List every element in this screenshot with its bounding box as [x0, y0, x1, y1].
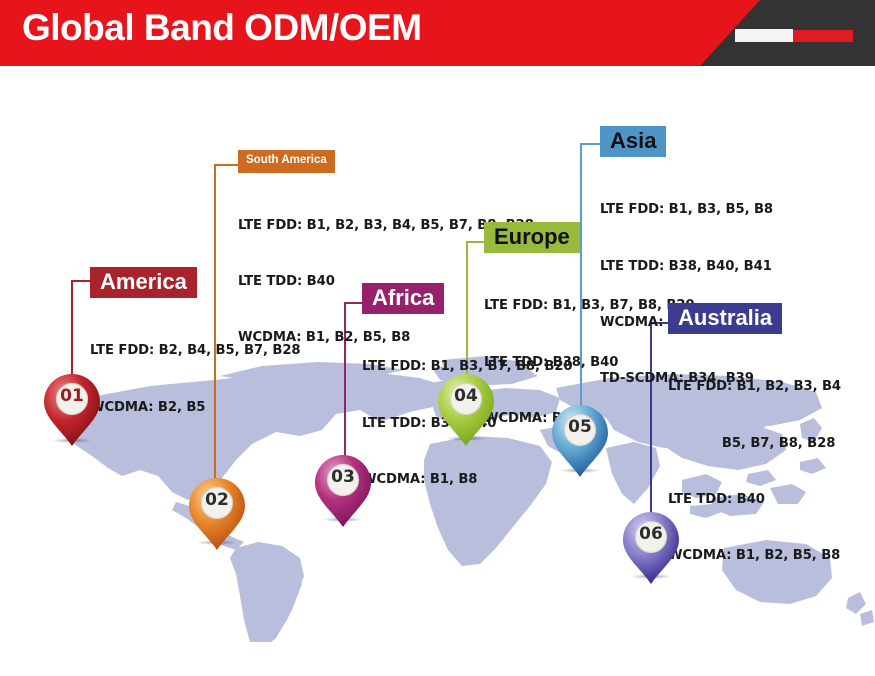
connector-south-america-horizontal	[214, 164, 240, 166]
slide-canvas: Global Band ODM/OEM	[0, 0, 875, 676]
region-label-asia[interactable]: Asia	[600, 126, 666, 157]
band-line: LTE FDD: B1, B3, B5, B8	[600, 201, 773, 220]
map-pin-01[interactable]: 01	[43, 373, 101, 447]
region-bands-australia: LTE FDD: B1, B2, B3, B4 B5, B7, B8, B28 …	[668, 341, 841, 603]
region-block-australia: Australia LTE FDD: B1, B2, B3, B4 B5, B7…	[668, 303, 841, 603]
region-label-australia[interactable]: Australia	[668, 303, 782, 334]
band-line: LTE FDD: B1, B2, B3, B4	[668, 378, 841, 397]
band-line: LTE TDD: B40	[668, 491, 841, 510]
connector-asia-horizontal	[580, 143, 602, 145]
region-label-africa[interactable]: Africa	[362, 283, 444, 314]
band-line: LTE TDD: B38, B40, B41	[600, 258, 773, 277]
band-line: WCDMA: B2, B5	[90, 399, 301, 418]
map-pin-05[interactable]: 05	[551, 404, 609, 478]
region-label-south-america[interactable]: South America	[238, 150, 335, 173]
map-pin-03[interactable]: 03	[314, 454, 372, 528]
logo-white-bar	[735, 29, 793, 42]
map-pin-06[interactable]: 06	[622, 511, 680, 585]
band-line: WCDMA: B1, B8	[362, 471, 573, 490]
brand-logo-icon	[735, 29, 853, 42]
band-line: WCDMA: B1, B2, B5, B8	[668, 547, 841, 566]
band-line: B5, B7, B8, B28	[668, 435, 841, 454]
logo-red-bar	[793, 30, 853, 42]
slide-header: Global Band ODM/OEM	[0, 0, 875, 66]
map-pin-04[interactable]: 04	[437, 373, 495, 447]
page-title: Global Band ODM/OEM	[22, 7, 422, 49]
region-label-america[interactable]: America	[90, 267, 197, 298]
region-label-europe[interactable]: Europe	[484, 222, 580, 253]
map-pin-02[interactable]: 02	[188, 477, 246, 551]
